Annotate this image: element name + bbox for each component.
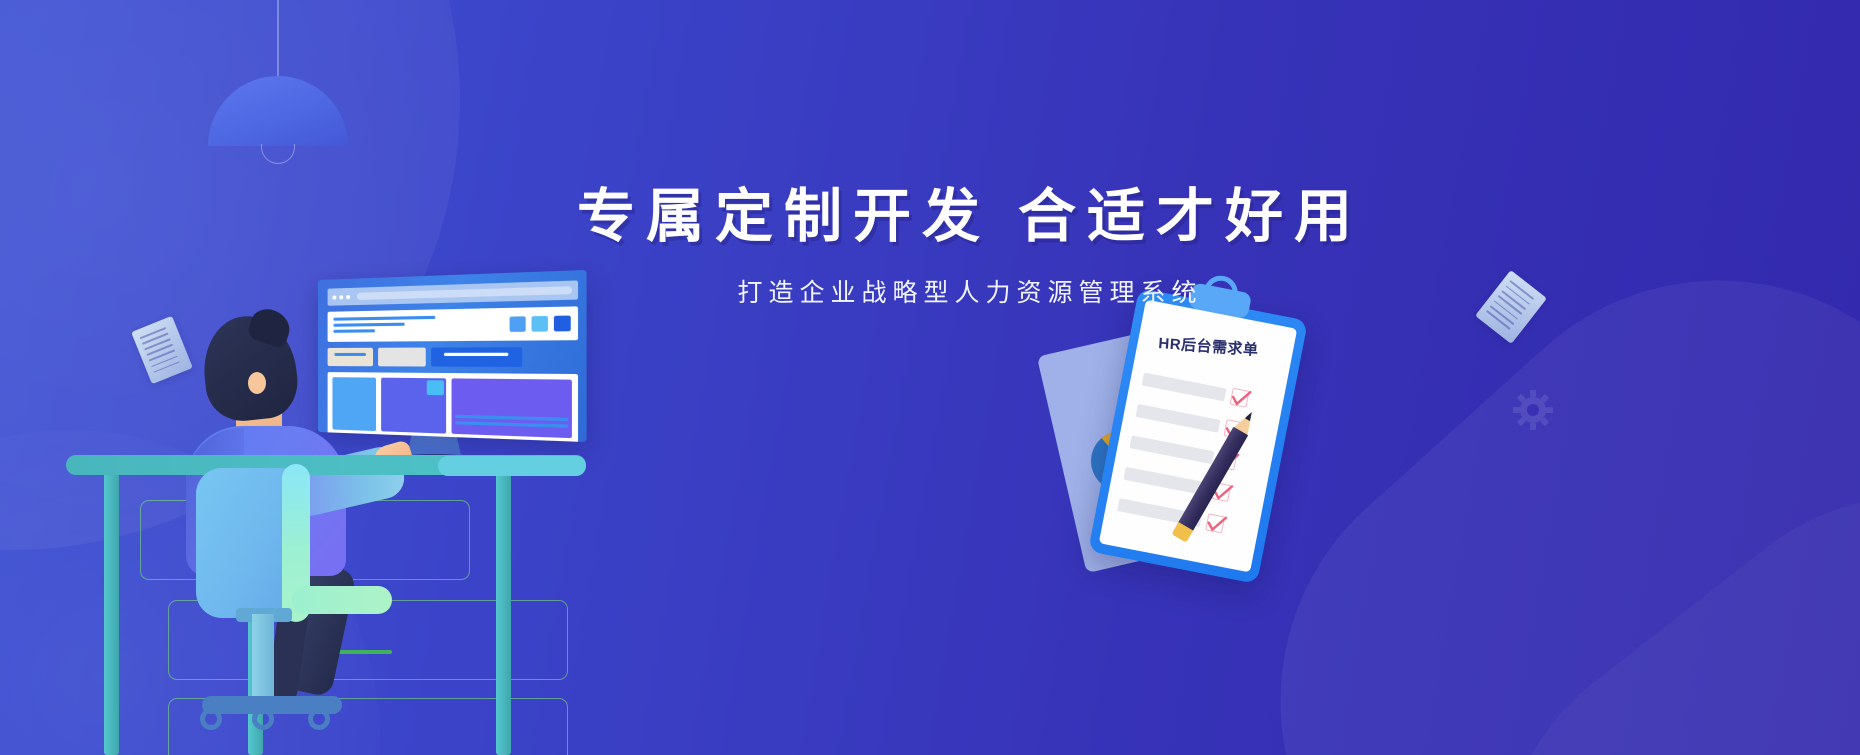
- header-button-3: [554, 316, 571, 332]
- clipboard-sheet: HR后台需求单: [1099, 300, 1297, 573]
- checkbox-checked: [1230, 387, 1250, 407]
- hero-banner: HR后台需求单: [0, 0, 1860, 755]
- lamp-cord: [277, 0, 279, 78]
- chair-post: [252, 614, 274, 700]
- checkbox-checked: [1205, 513, 1225, 533]
- chair-wheel: [200, 708, 222, 730]
- office-chair: [196, 468, 386, 755]
- chair-seat: [292, 586, 392, 614]
- header-button-1: [510, 316, 526, 332]
- header-button-2: [532, 316, 548, 332]
- desk-leg: [496, 473, 511, 755]
- banner-copy: 专属定制开发 合适才好用 打造企业战略型人力资源管理系统: [0, 186, 1860, 309]
- lamp-shade: [208, 76, 348, 146]
- chair-wheel: [252, 708, 274, 730]
- gear-icon-right: [1513, 390, 1553, 430]
- content-card-3: [452, 378, 572, 438]
- card-badge: [427, 380, 444, 395]
- desk-leg: [104, 473, 119, 755]
- desk-top-highlight: [438, 456, 586, 476]
- chip-3: [431, 347, 522, 367]
- clipboard-illustration: HR后台需求单: [1060, 280, 1300, 610]
- clipboard-title: HR后台需求单: [1158, 332, 1279, 361]
- person-ear: [248, 372, 266, 394]
- banner-headline: 专属定制开发 合适才好用: [80, 186, 1860, 249]
- lamp-bulb: [261, 144, 295, 164]
- pendant-lamp-icon: [208, 0, 348, 175]
- banner-subheadline: 打造企业战略型人力资源管理系统: [80, 273, 1860, 309]
- clipboard: HR后台需求单: [1088, 288, 1308, 584]
- chair-wheel: [308, 708, 330, 730]
